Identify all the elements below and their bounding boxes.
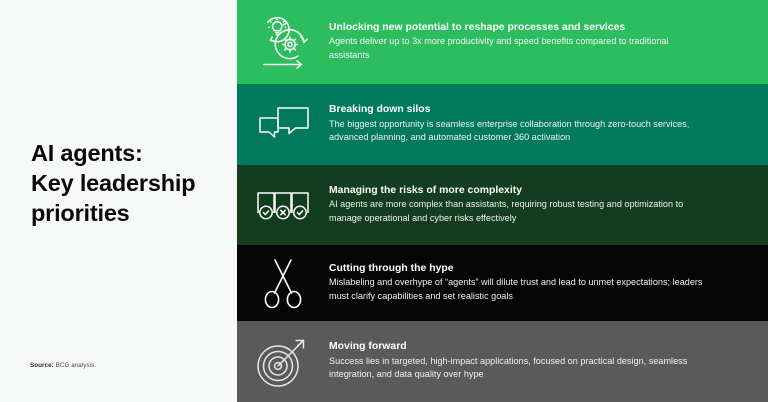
list-item-body: Success lies in targeted, high-impact ap… [329,355,711,382]
scissors-icon [237,255,329,311]
source-value: BCG analysis. [56,362,97,369]
list-item-heading: Unlocking new potential to reshape proce… [329,22,734,33]
list-item[interactable]: Managing the risks of more complexity AI… [237,165,768,245]
target-arrow-icon [237,335,329,389]
list-item-heading: Managing the risks of more complexity [329,185,734,196]
source-label: Source: [30,362,54,369]
list-item[interactable]: Breaking down silos The biggest opportun… [237,84,768,165]
list-item[interactable]: Unlocking new potential to reshape proce… [237,0,768,84]
list-item-text: Moving forward Success lies in targeted,… [329,341,768,381]
list-item-heading: Cutting through the hype [329,263,734,274]
list-item-text: Cutting through the hype Mislabeling and… [329,263,768,303]
page-title: AI agents: Key leadership priorities [31,138,231,228]
list-item-body: AI agents are more complex than assistan… [329,198,711,225]
speech-bubbles-icon [237,100,329,150]
slide-canvas: AI agents: Key leadership priorities Sou… [0,0,768,402]
list-item[interactable]: Moving forward Success lies in targeted,… [237,321,768,402]
title-panel: AI agents: Key leadership priorities Sou… [0,0,237,402]
priorities-list: Unlocking new potential to reshape proce… [237,0,768,402]
list-item-text: Breaking down silos The biggest opportun… [329,104,768,144]
list-item-heading: Moving forward [329,341,734,352]
list-item-text: Managing the risks of more complexity AI… [329,185,768,225]
list-item-text: Unlocking new potential to reshape proce… [329,22,768,62]
list-item-body: Mislabeling and overhype of “agents” wil… [329,276,711,303]
boxes-check-cross-icon [237,183,329,227]
list-item-body: Agents deliver up to 3x more productivit… [329,35,711,62]
source-note: Source: BCG analysis. [30,362,96,369]
list-item-body: The biggest opportunity is seamless ente… [329,118,711,145]
list-item[interactable]: Cutting through the hype Mislabeling and… [237,245,768,321]
list-item-heading: Breaking down silos [329,104,734,115]
lightbulb-gear-cycle-icon [237,13,329,71]
